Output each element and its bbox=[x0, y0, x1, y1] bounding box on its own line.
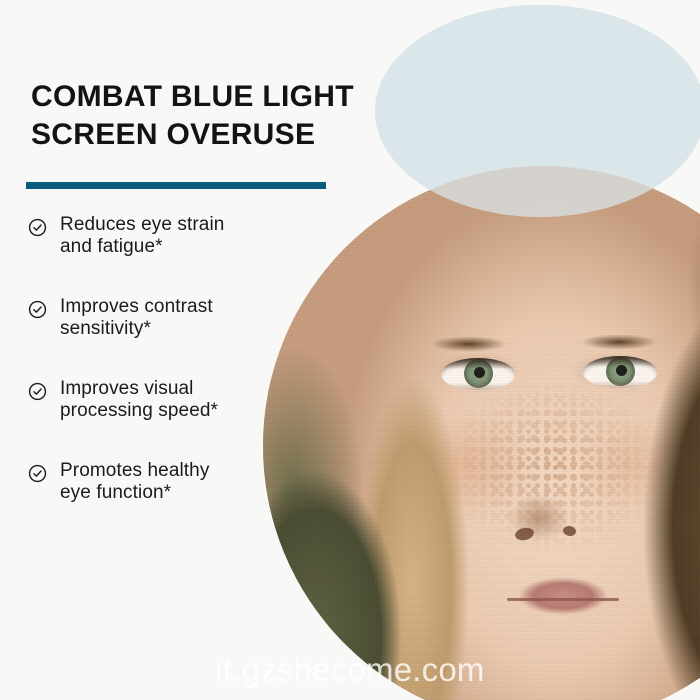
left-eyelash bbox=[441, 358, 515, 369]
list-item: Improves visual processing speed* bbox=[28, 378, 283, 460]
benefit-label: Improves contrast sensitivity* bbox=[60, 296, 213, 340]
list-item: Promotes healthy eye function* bbox=[28, 460, 283, 542]
portrait-image bbox=[263, 166, 700, 700]
left-lower-lid bbox=[441, 383, 515, 390]
right-lower-lid bbox=[583, 381, 657, 388]
poster-canvas: COMBAT BLUE LIGHT SCREEN OVERUSE Reduces… bbox=[0, 0, 700, 700]
list-item: Improves contrast sensitivity* bbox=[28, 296, 283, 378]
benefits-list: Reduces eye strain and fatigue* Improves… bbox=[28, 214, 283, 542]
benefit-label: Promotes healthy eye function* bbox=[60, 460, 209, 504]
accent-divider bbox=[26, 182, 326, 189]
check-circle-icon bbox=[28, 382, 47, 401]
portrait-photo bbox=[263, 166, 700, 700]
right-eyelash bbox=[583, 356, 657, 367]
check-circle-icon bbox=[28, 218, 47, 237]
page-title: COMBAT BLUE LIGHT SCREEN OVERUSE bbox=[31, 78, 431, 155]
check-circle-icon bbox=[28, 300, 47, 319]
list-item: Reduces eye strain and fatigue* bbox=[28, 214, 283, 296]
benefit-label: Reduces eye strain and fatigue* bbox=[60, 214, 224, 258]
lip-line bbox=[507, 598, 619, 601]
right-eye bbox=[583, 356, 657, 388]
left-eye bbox=[441, 358, 515, 390]
check-circle-icon bbox=[28, 464, 47, 483]
benefit-label: Improves visual processing speed* bbox=[60, 378, 218, 422]
